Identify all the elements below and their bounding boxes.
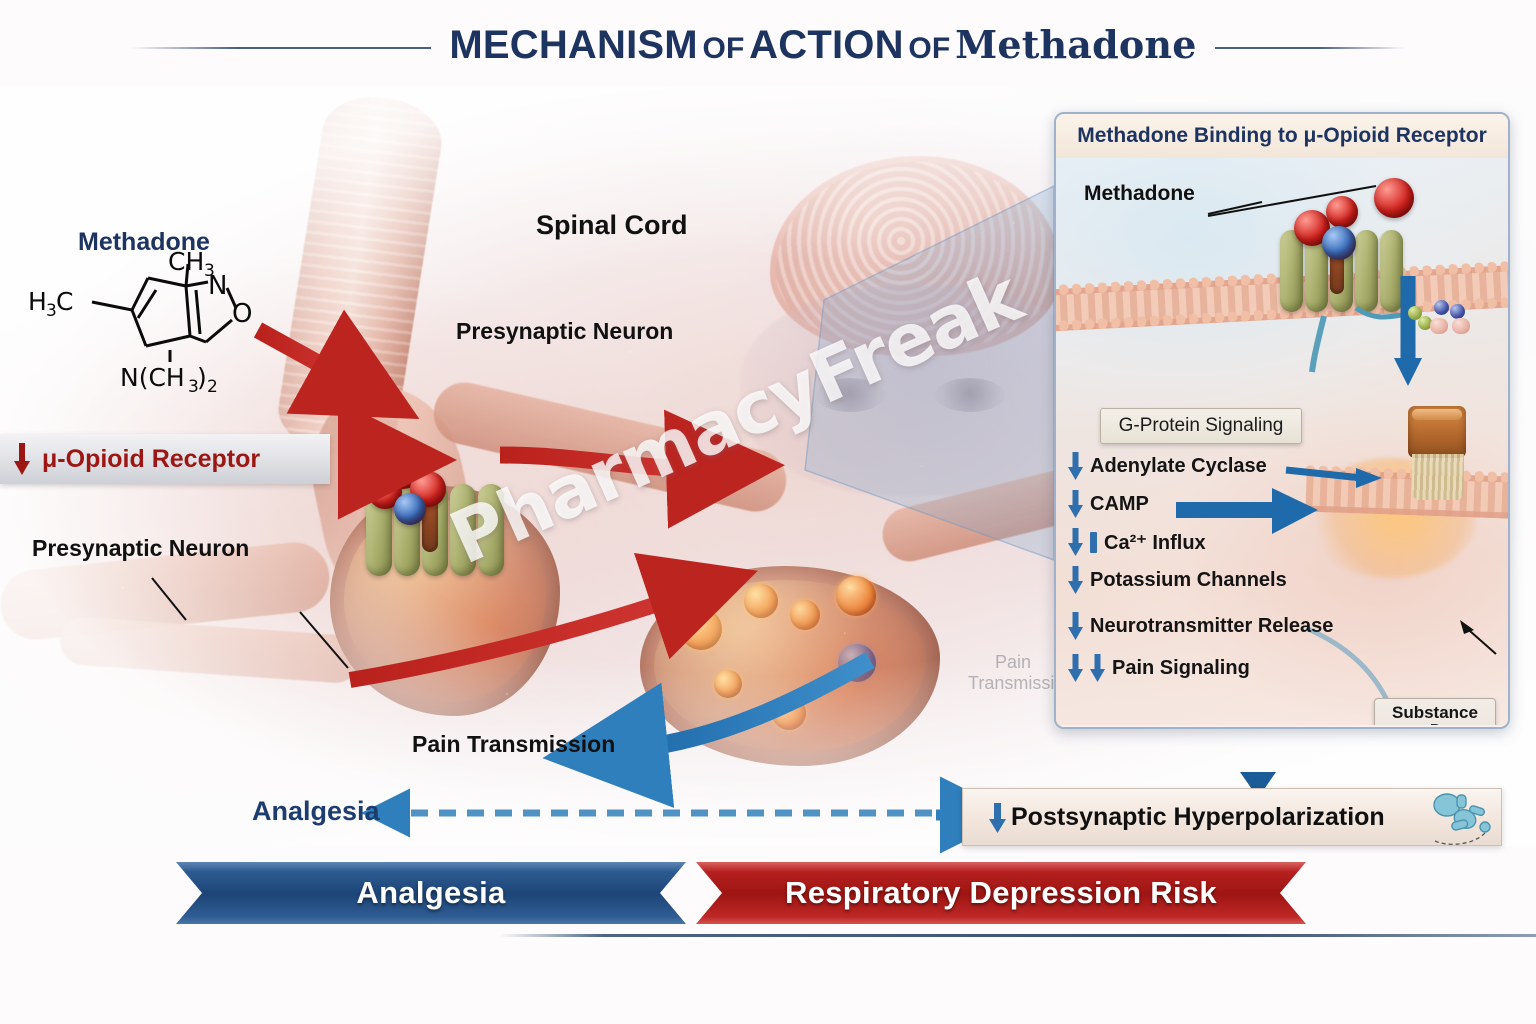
label-pain-transmission: Pain Transmission — [412, 731, 615, 758]
label-spinal-cord: Spinal Cord — [536, 210, 688, 241]
methadone-molecule — [1374, 178, 1414, 218]
cascade-item: Potassium Channels — [1068, 564, 1368, 596]
receptor-helix — [1380, 230, 1403, 312]
faint-label-line2: Transmission — [968, 673, 1058, 694]
atom-label-amine: N(CH — [120, 363, 185, 392]
atom-label-o: O — [232, 299, 252, 329]
g-protein-stem — [1312, 316, 1324, 372]
label-analgesia: Analgesia — [252, 796, 380, 827]
down-arrow-icon — [1068, 612, 1083, 640]
receptor-helix — [1280, 230, 1303, 312]
ribbon-respiratory-depression: Respiratory Depression Risk — [696, 862, 1306, 924]
title-of-2: OF — [908, 32, 950, 65]
down-arrow-icon — [1068, 528, 1083, 556]
down-arrow-icon — [1068, 490, 1083, 518]
g-protein-signaling-label: G-Protein Signaling — [1119, 415, 1284, 437]
down-arrow-icon — [1068, 566, 1083, 594]
label-presynaptic-neuron-top: Presynaptic Neuron — [456, 318, 673, 345]
cascade-label: CAMP — [1090, 493, 1149, 516]
cascade-label: Neurotransmitter Release — [1090, 615, 1333, 638]
bottom-rule — [500, 934, 1536, 937]
channel-fibers — [1412, 454, 1464, 500]
atom-label-amine-sub2: 2 — [207, 377, 218, 395]
g-gamma-subunit — [1450, 304, 1465, 319]
inset-receptor-graphic — [1278, 192, 1408, 312]
cascade-item: CAMP — [1068, 488, 1368, 520]
inset-methadone-label: Methadone — [1084, 182, 1195, 206]
ligand-molecule-blue — [394, 493, 426, 525]
diagram-canvas: MECHANISM OF ACTION OF Methadone — [0, 0, 1536, 1024]
down-arrow-icon — [14, 443, 30, 475]
atom-label-h3c: H — [28, 287, 47, 316]
g-beta-subunit — [1434, 300, 1449, 315]
atom-label-n: N — [208, 271, 227, 301]
cascade-label: Potassium Channels — [1090, 569, 1287, 592]
cascade-label: Pain Signaling — [1112, 657, 1250, 680]
inhibition-bar-icon — [1090, 532, 1097, 553]
receptor-helix — [1355, 230, 1378, 312]
cascade-label: Ca²⁺ Influx — [1104, 530, 1206, 555]
label-presynaptic-neuron-left: Presynaptic Neuron — [32, 535, 249, 562]
substance-p-label: P — [1375, 722, 1495, 725]
panel-body: Methadone G-Protein Signaling — [1056, 158, 1508, 725]
down-arrow-icon — [1090, 654, 1105, 682]
down-arrow-icon — [1068, 654, 1083, 682]
title-action: ACTION — [749, 23, 904, 67]
title-text: MECHANISM OF ACTION OF Methadone — [449, 22, 1196, 68]
signaling-cascade-list: Adenylate Cyclase CAMP Ca²⁺ Influx — [1068, 450, 1368, 690]
methadone-binding-panel: Methadone Binding to μ-Opioid Receptor — [1054, 112, 1510, 729]
leader-line — [1462, 624, 1496, 654]
title-methadone: Methadone — [955, 22, 1197, 67]
ribbon-analgesia-label: Analgesia — [356, 875, 505, 911]
panel-title: Methadone Binding to μ-Opioid Receptor — [1077, 124, 1487, 148]
atom-label-h3c-c: C — [56, 287, 73, 316]
mu-opioid-receptor-callout: μ-Opioid Receptor — [0, 434, 330, 484]
cascade-item: Adenylate Cyclase — [1068, 450, 1368, 482]
postsynaptic-hyperpolarization-bar: Postsynaptic Hyperpolarization — [962, 788, 1502, 846]
ribbon-analgesia: Analgesia — [176, 862, 686, 924]
g-protein-complex — [1408, 298, 1474, 334]
g-protein-base — [1430, 318, 1448, 334]
cascade-label: Adenylate Cyclase — [1090, 455, 1267, 478]
faint-label-line1: Pain — [968, 652, 1058, 673]
methadone-molecule — [1326, 196, 1358, 228]
ligand-molecule-blue — [1322, 226, 1356, 260]
neuron-glyph-icon — [1421, 785, 1493, 847]
page-title: MECHANISM OF ACTION OF Methadone — [0, 14, 1536, 76]
down-arrow-icon — [1068, 452, 1083, 480]
title-mechanism: MECHANISM — [449, 23, 697, 67]
g-protein-signaling-box: G-Protein Signaling — [1100, 408, 1302, 444]
methadone-structure: H 3 C CH 3 N O N(CH 3 ) 2 — [20, 250, 300, 395]
ion-channel — [1408, 406, 1466, 458]
cascade-item: Neurotransmitter Release — [1068, 610, 1368, 642]
hyperpolarization-label: Postsynaptic Hyperpolarization — [963, 803, 1385, 832]
down-arrow-icon — [989, 803, 1006, 833]
title-of-1: OF — [702, 32, 744, 65]
leader-line — [1208, 202, 1262, 214]
faint-pain-transmission-label: Pain Transmission — [968, 652, 1058, 693]
atom-label-amine-close: ) — [197, 363, 207, 392]
title-rule-left — [131, 47, 431, 49]
arrow-cascade-vertical-head — [1394, 358, 1422, 386]
substance-p-glutamate-box: Substance P Glutamate — [1374, 698, 1496, 725]
cascade-item: Pain Signaling — [1068, 652, 1368, 684]
g-protein-base — [1452, 318, 1470, 334]
mu-opioid-receptor-label: μ-Opioid Receptor — [0, 445, 260, 474]
ribbon-respiratory-label: Respiratory Depression Risk — [785, 875, 1217, 911]
panel-header: Methadone Binding to μ-Opioid Receptor — [1056, 114, 1508, 160]
substance-label: Substance — [1375, 703, 1495, 722]
atom-label-ch3: CH — [168, 250, 204, 276]
outcome-ribbons: Analgesia Respiratory Depression Risk — [0, 862, 1536, 934]
cascade-item: Ca²⁺ Influx — [1068, 526, 1368, 558]
title-rule-right — [1215, 47, 1405, 49]
leader-arrowhead — [1460, 620, 1474, 634]
